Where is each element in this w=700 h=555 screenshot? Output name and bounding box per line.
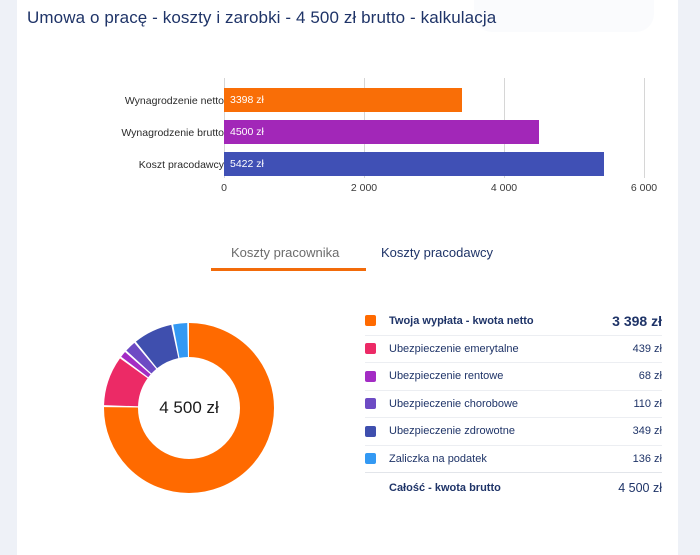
legend-row: Ubezpieczenie emerytalne439 zł [365,335,662,363]
tab-employer-costs[interactable]: Koszty pracodawcy [379,240,495,269]
legend-color-swatch-icon [365,453,376,464]
legend-color-swatch-icon [365,398,376,409]
bar-category-label: Wynagrodzenie brutto [44,127,224,139]
bar-chart-bar[interactable]: 4500 zł [224,120,539,144]
bar-axis-tick: 2 000 [351,182,377,194]
legend-value: 68 zł [639,370,662,382]
legend-value: 3 398 zł [612,313,662,329]
salary-bar-chart: Wynagrodzenie nettoWynagrodzenie bruttoK… [17,78,678,196]
bar-chart-category-labels: Wynagrodzenie nettoWynagrodzenie bruttoK… [37,78,224,178]
legend-row: Ubezpieczenie rentowe68 zł [365,362,662,390]
legend-label: Twoja wypłata - kwota netto [389,315,612,327]
content-sheet: Umowa o pracę - koszty i zarobki - 4 500… [17,0,678,555]
legend-label: Ubezpieczenie emerytalne [389,343,633,355]
cost-donut-chart: 4 500 zł [99,318,279,498]
legend-label: Ubezpieczenie rentowe [389,370,639,382]
legend-label: Ubezpieczenie zdrowotne [389,425,633,437]
legend-color-swatch-icon [365,343,376,354]
legend-value: 349 zł [633,425,662,437]
legend-color-swatch-icon [365,426,376,437]
legend-row: Twoja wypłata - kwota netto3 398 zł [365,307,662,335]
legend-row: Ubezpieczenie zdrowotne349 zł [365,417,662,445]
legend-value: 110 zł [633,398,662,410]
legend-value: 439 zł [633,343,662,355]
cost-tabs: Koszty pracownikaKoszty pracodawcy [17,240,678,278]
legend-swatch-spacer [365,482,376,493]
legend-total-row: Całość - kwota brutto4 500 zł [365,472,662,502]
legend-color-swatch-icon [365,315,376,326]
tab-employee-costs[interactable]: Koszty pracownika [229,240,341,269]
legend-label: Ubezpieczenie chorobowe [389,398,633,410]
decorative-blob [474,0,654,32]
active-tab-underline [211,268,366,271]
bar-axis-tick: 0 [221,182,227,194]
page-root: Umowa o pracę - koszty i zarobki - 4 500… [0,0,700,555]
bar-axis-tick: 4 000 [491,182,517,194]
bar-category-label: Wynagrodzenie netto [44,95,224,107]
bar-chart-bar[interactable]: 3398 zł [224,88,462,112]
bar-category-label: Koszt pracodawcy [44,159,224,171]
legend-row: Ubezpieczenie chorobowe110 zł [365,390,662,418]
bar-chart-bar[interactable]: 5422 zł [224,152,604,176]
page-title: Umowa o pracę - koszty i zarobki - 4 500… [27,6,497,29]
legend-color-swatch-icon [365,371,376,382]
legend-label: Całość - kwota brutto [389,482,618,494]
bar-value-label: 3398 zł [230,94,264,106]
bar-chart-plot-area: 3398 zł4500 zł5422 zł02 0004 0006 000 [224,78,644,178]
legend-label: Zaliczka na podatek [389,453,633,465]
cost-legend-table: Twoja wypłata - kwota netto3 398 złUbezp… [365,307,662,502]
donut-center-label: 4 500 zł [159,398,219,418]
legend-row: Zaliczka na podatek136 zł [365,445,662,473]
bar-value-label: 5422 zł [230,158,264,170]
bar-chart-gridline [644,78,645,178]
legend-value: 136 zł [633,453,662,465]
bar-axis-tick: 6 000 [631,182,657,194]
legend-value: 4 500 zł [618,481,662,495]
bar-value-label: 4500 zł [230,126,264,138]
